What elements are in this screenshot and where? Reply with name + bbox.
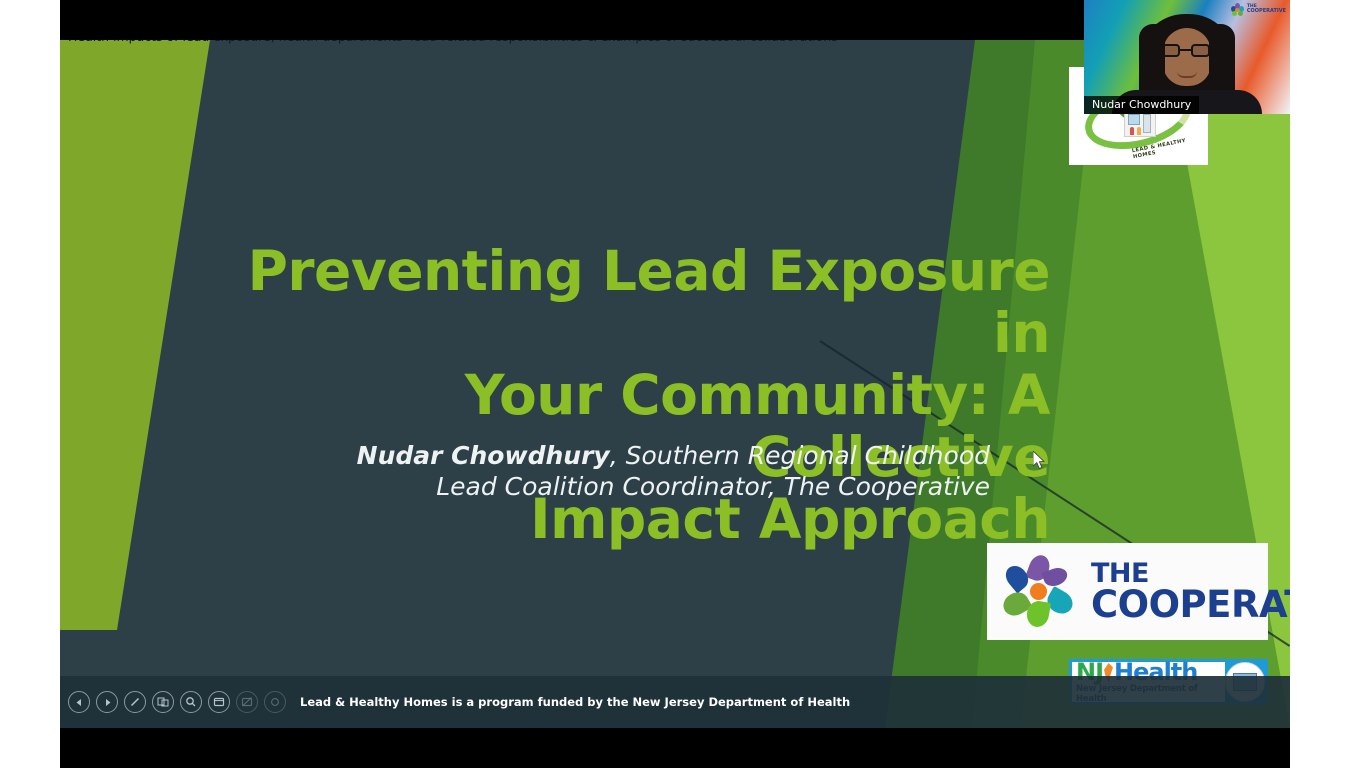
participant-name-label: Nudar Chowdhury <box>1084 96 1199 114</box>
presentation-toolbar[interactable] <box>68 691 286 713</box>
stop-share-icon[interactable] <box>236 691 258 713</box>
cooperative-line-2: COOPERATIVE <box>1091 587 1290 623</box>
slide-title-line-1: Preventing Lead Exposure in <box>190 240 1050 364</box>
previous-slide-button[interactable] <box>68 691 90 713</box>
next-slide-button[interactable] <box>96 691 118 713</box>
slide-presenter-line: Nudar Chowdhury, Southern Regional Child… <box>290 440 990 502</box>
cooperative-wordmark: THE COOPERATIVE <box>1091 561 1290 622</box>
cooperative-watermark-icon <box>1231 3 1244 16</box>
presenter-name: Nudar Chowdhury <box>357 441 610 470</box>
cooperative-logo: THE COOPERATIVE <box>987 543 1268 640</box>
slide-title: Preventing Lead Exposure in Your Communi… <box>190 240 1050 550</box>
cooperative-watermark-text: THE COOPERATIVE <box>1247 5 1286 15</box>
pen-annotate-icon[interactable] <box>124 691 146 713</box>
decor-green-shape-left <box>60 40 210 630</box>
slide-thumbnails-icon[interactable] <box>152 691 174 713</box>
zoom-magnifier-icon[interactable] <box>180 691 202 713</box>
watermark-line-2: COOPERATIVE <box>1247 9 1286 14</box>
slide-footer-note: Lead & Healthy Homes is a program funded… <box>300 695 850 709</box>
cooperative-pinwheel-icon <box>1003 555 1077 629</box>
more-options-icon[interactable] <box>264 691 286 713</box>
mouse-cursor <box>1033 451 1047 471</box>
webcam-video-tile[interactable]: THE COOPERATIVE Nudar Chowdhury <box>1084 0 1290 114</box>
cooperative-watermark: THE COOPERATIVE <box>1231 3 1286 16</box>
slide-footer-bar: Lead & Healthy Homes is a program funded… <box>60 676 1290 728</box>
screen: Preventing Lead Exposure in Your Communi… <box>0 0 1366 768</box>
full-screen-icon[interactable] <box>208 691 230 713</box>
